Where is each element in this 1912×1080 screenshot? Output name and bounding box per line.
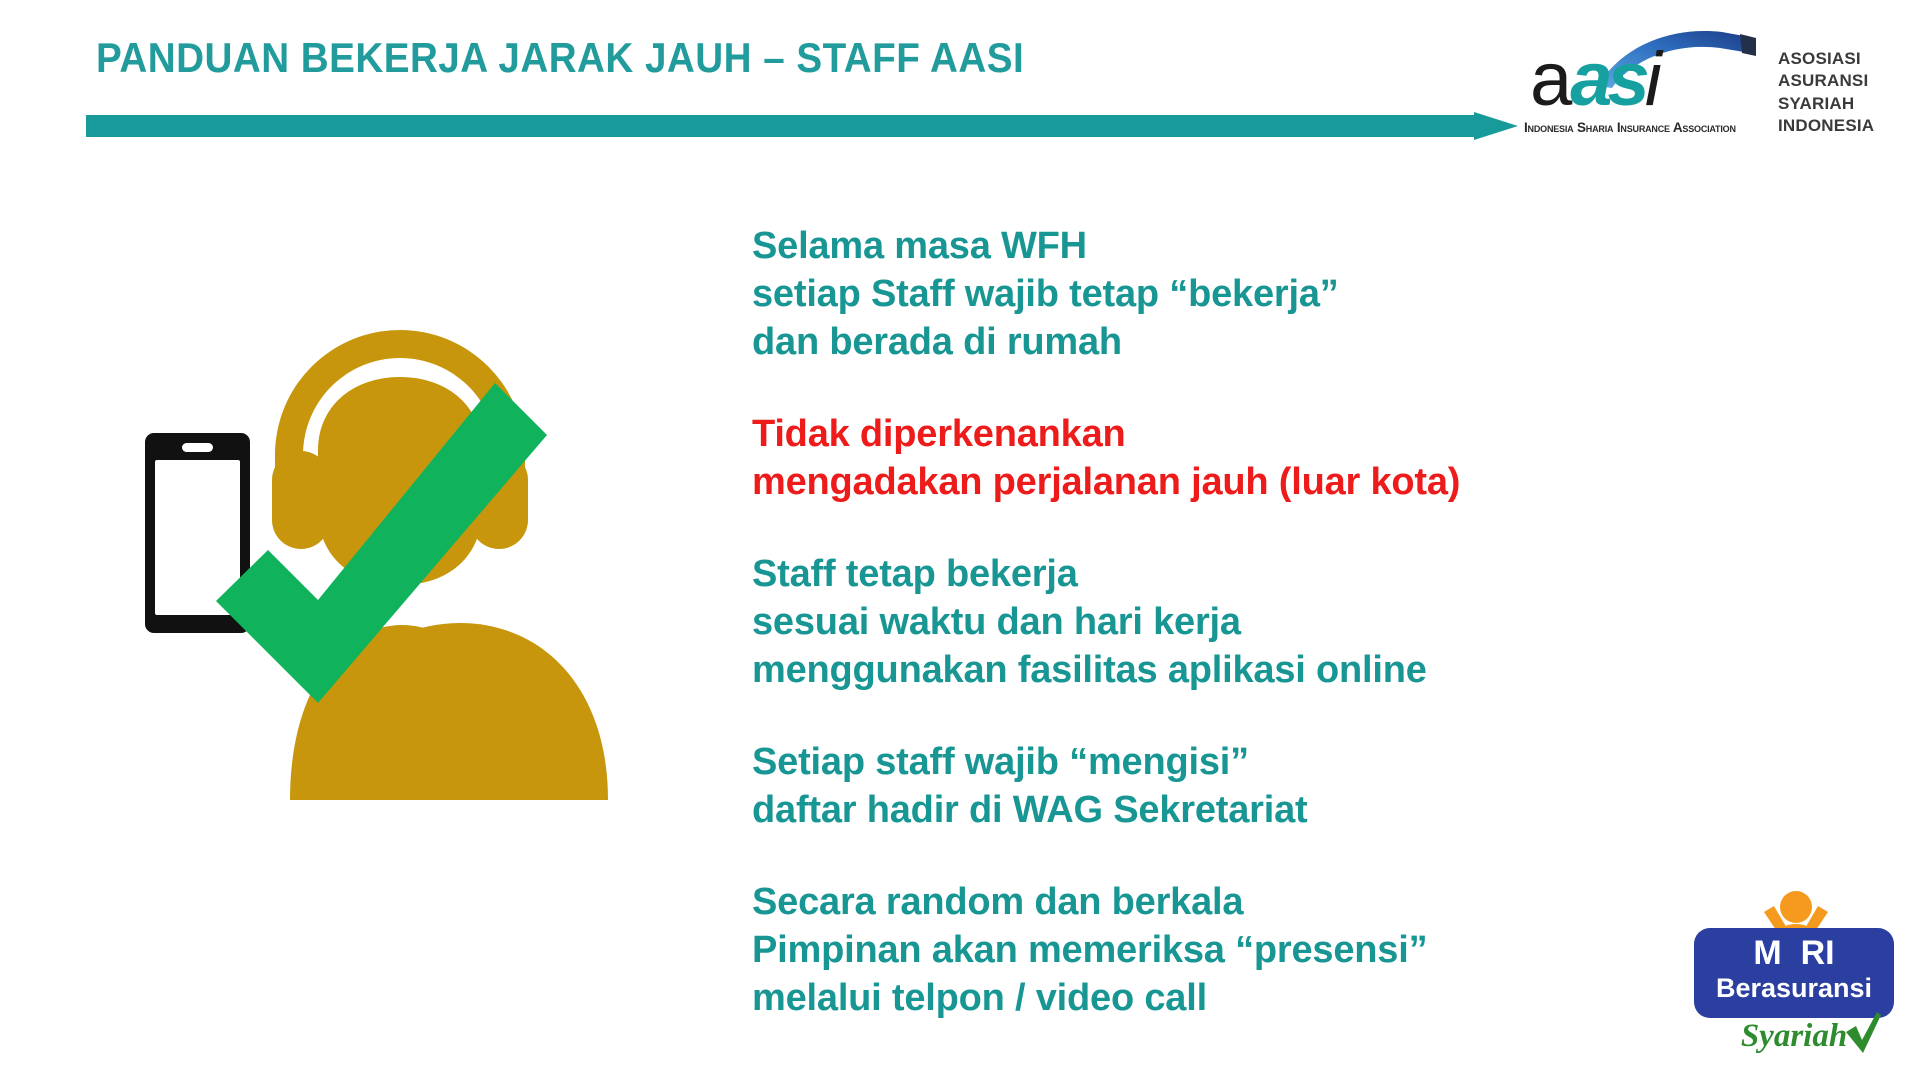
aasi-letter-i: i — [1645, 37, 1660, 122]
title-arrow-divider — [86, 112, 1518, 140]
mari-word-berasuransi: Berasuransi — [1694, 975, 1894, 1002]
paragraph-3-line-1: Staff tetap bekerja — [752, 550, 1792, 598]
paragraph-1-line-3: dan berada di rumah — [752, 318, 1792, 366]
paragraph-1-line-2: setiap Staff wajib tetap “bekerja” — [752, 270, 1792, 318]
body-copy: Selama masa WFH setiap Staff wajib tetap… — [752, 222, 1792, 1022]
aasi-logo: aasi Indonesia Sharia Insurance Associat… — [1522, 20, 1900, 144]
paragraph-5-line-2: Pimpinan akan memeriksa “presensi” — [752, 926, 1792, 974]
aasi-fullname: ASOSIASI ASURANSI SYARIAH INDONESIA — [1778, 48, 1874, 138]
page-title: PANDUAN BEKERJA JARAK JAUH – STAFF AASI — [96, 34, 1024, 82]
arrow-head-icon — [1474, 112, 1518, 140]
paragraph-2-line-2: mengadakan perjalanan jauh (luar kota) — [752, 458, 1792, 506]
aasi-letter-a: a — [1530, 37, 1570, 122]
aasi-fullname-line-2: ASURANSI — [1778, 70, 1874, 92]
paragraph-3: Staff tetap bekerja sesuai waktu dan har… — [752, 550, 1792, 694]
paragraph-5: Secara random dan berkala Pimpinan akan … — [752, 878, 1792, 1022]
paragraph-1-line-1: Selama masa WFH — [752, 222, 1792, 270]
paragraph-2-line-1: Tidak diperkenankan — [752, 410, 1792, 458]
mari-letters-ri: RI — [1801, 934, 1835, 972]
aasi-fullname-line-3: SYARIAH — [1778, 93, 1874, 115]
paragraph-3-line-3: menggunakan fasilitas aplikasi online — [752, 646, 1792, 694]
headset-person-icon — [272, 330, 608, 800]
paragraph-4-line-2: daftar hadir di WAG Sekretariat — [752, 786, 1792, 834]
paragraph-5-line-3: melalui telpon / video call — [752, 974, 1792, 1022]
aasi-fullname-line-4: INDONESIA — [1778, 115, 1874, 137]
mari-word-mari: M RI — [1694, 936, 1894, 970]
paragraph-3-line-2: sesuai waktu dan hari kerja — [752, 598, 1792, 646]
paragraph-1: Selama masa WFH setiap Staff wajib tetap… — [752, 222, 1792, 366]
mari-letter-m: M — [1753, 934, 1781, 972]
aasi-logo-mark: aasi Indonesia Sharia Insurance Associat… — [1522, 20, 1768, 144]
mari-check-icon — [1844, 1012, 1882, 1054]
aasi-letters-as: as — [1570, 37, 1645, 122]
arrow-shaft — [86, 115, 1478, 137]
mari-berasuransi-logo: M RI Berasuransi Syariah — [1694, 890, 1894, 1068]
aasi-wordmark: aasi — [1530, 42, 1660, 118]
paragraph-4: Setiap staff wajib “mengisi” daftar hadi… — [752, 738, 1792, 834]
aasi-fullname-line-1: ASOSIASI — [1778, 48, 1874, 70]
paragraph-2-alert: Tidak diperkenankan mengadakan perjalana… — [752, 410, 1792, 506]
aasi-tagline: Indonesia Sharia Insurance Association — [1524, 120, 1736, 135]
wfh-illustration — [140, 255, 660, 800]
paragraph-4-line-1: Setiap staff wajib “mengisi” — [752, 738, 1792, 786]
paragraph-5-line-1: Secara random dan berkala — [752, 878, 1792, 926]
